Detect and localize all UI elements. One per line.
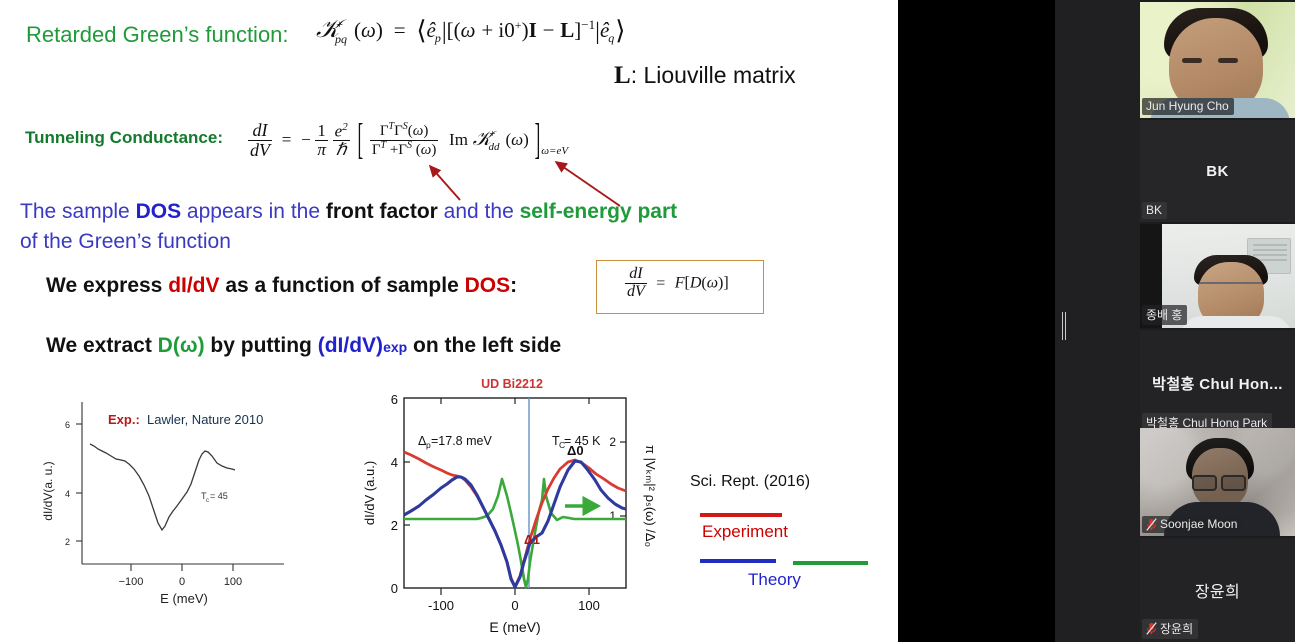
- s2-dos: DOS: [465, 274, 511, 297]
- s2-colon: :: [510, 274, 517, 297]
- exp-curve: [90, 444, 235, 530]
- credit-label: Sci. Rept. (2016): [690, 473, 810, 490]
- s1-dos: DOS: [136, 200, 182, 223]
- s1-front-factor: front factor: [326, 200, 438, 223]
- y-axis-label: dI/dV (a.u.): [362, 461, 377, 525]
- s1-part-a: The sample: [20, 200, 136, 223]
- participant-tile-bk[interactable]: BK BK: [1140, 120, 1295, 222]
- participant-initials: BK: [1206, 163, 1228, 180]
- x-tick-100: 100: [578, 598, 600, 613]
- sidebar-drag-handle[interactable]: [1060, 312, 1068, 340]
- x-tick-0: 0: [511, 598, 518, 613]
- annot-delta-p-val: =17.8 meV: [431, 434, 492, 448]
- participant-name: Soonjae Moon: [1160, 517, 1237, 531]
- tc-annotation-sub: c: [206, 498, 209, 504]
- s1-part-c: and the: [438, 200, 520, 223]
- y-tick-2: 2: [65, 537, 70, 547]
- credit-text: Sci. Rept. (2016): [690, 473, 810, 491]
- sentence-sample-dos-line1: The sample DOS appears in the front fact…: [20, 200, 677, 224]
- participant-name: 종배 홍: [1146, 306, 1182, 323]
- x-axis-label: E (meV): [160, 591, 208, 606]
- x-tick-neg100: -100: [428, 598, 454, 613]
- y-tick-4: 4: [391, 455, 398, 470]
- arrow-to-front-factor: [430, 166, 460, 200]
- participant-namebar-jun-hyung-cho: Jun Hyung Cho: [1142, 98, 1234, 115]
- x-tick-neg100: −100: [119, 576, 144, 588]
- sentence-extract-d: We extract D(ω) by putting (dI/dV)exp on…: [46, 334, 561, 358]
- s2-didv: dI/dV: [168, 274, 219, 297]
- mic-muted-icon: [1146, 622, 1157, 635]
- mic-muted-icon: [1146, 518, 1157, 531]
- y2-tick-2: 2: [609, 435, 616, 449]
- sentence-express-didv: We express dI/dV as a function of sample…: [46, 274, 517, 298]
- boxed-equation: dIdV = F[D(ω)]: [596, 260, 764, 314]
- s3-part-c: on the left side: [407, 334, 561, 357]
- participant-name: Jun Hyung Cho: [1146, 99, 1229, 113]
- annot-delta0: Δ0: [567, 443, 584, 458]
- participant-initials: 박철홍 Chul Hon...: [1152, 373, 1283, 394]
- s2-part-b: as a function of sample: [220, 274, 465, 297]
- sentence-sample-dos-line2: of the Green’s function: [20, 230, 231, 254]
- y2-tick-1: 1: [609, 509, 616, 523]
- annot-delta1: Δ1: [524, 533, 540, 547]
- x-tick-0: 0: [179, 576, 185, 588]
- legend-theory-text: Theory: [748, 570, 801, 589]
- chart-ud-bi2212-svg: UD Bi2212 6 4 2 0 2 1: [360, 370, 680, 640]
- s1-self-energy: self-energy part: [520, 200, 678, 223]
- participant-tile-soonjae-moon[interactable]: Soonjae Moon: [1140, 428, 1295, 536]
- s3-part-b: by putting: [205, 334, 318, 357]
- s3-part-a: We extract: [46, 334, 158, 357]
- s1-part-d: of the Green’s function: [20, 230, 231, 253]
- legend-theory-label: Theory: [748, 570, 801, 590]
- legend-experiment-swatch: [700, 513, 782, 517]
- y-tick-2: 2: [391, 518, 398, 533]
- x-axis-label: E (meV): [489, 619, 540, 635]
- chart-ud-bi2212: UD Bi2212 6 4 2 0 2 1: [360, 370, 680, 640]
- legend-experiment-text: Experiment: [702, 522, 788, 541]
- legend-experiment-label: Experiment: [702, 522, 788, 542]
- y-tick-6: 6: [391, 392, 398, 407]
- presentation-slide: Retarded Green’s function: 𝒦+pq(ω) = ⟨êp…: [0, 0, 898, 642]
- participant-tile-chul-hong-park[interactable]: 박철홍 Chul Hon... 박철홍 Chul Hong Park: [1140, 330, 1295, 436]
- x-tick-100: 100: [224, 576, 242, 588]
- s1-part-b: appears in the: [181, 200, 326, 223]
- tc-annotation-tail: = 45: [210, 491, 228, 501]
- participant-namebar-soonjae-moon: Soonjae Moon: [1142, 516, 1242, 533]
- screen-root: Retarded Green’s function: 𝒦+pq(ω) = ⟨êp…: [0, 0, 1295, 642]
- y2-axis-label: π |Vₖₘ|² ρₛ(ω) /Δ₀: [643, 445, 658, 547]
- y-axis-label: dI/dV(a. u.): [41, 461, 55, 520]
- legend-green-swatch: [793, 561, 868, 565]
- y-tick-4: 4: [65, 489, 70, 499]
- s3-exp-subscript: exp: [383, 339, 407, 355]
- participant-tile-jongbae-hong[interactable]: 종배 홍: [1140, 224, 1295, 328]
- chart-exp-lawler-svg: 6 4 2 −100 0 100 Exp.: Lawler, Nature 20…: [34, 396, 304, 616]
- exp-title-prefix: Exp.:: [108, 412, 140, 427]
- participants-sidebar: Jun Hyung Cho BK BK 종배 홍 박철홍 Chu: [1140, 0, 1295, 642]
- chart-title: UD Bi2212: [481, 377, 543, 391]
- participant-namebar-jongbae-hong: 종배 홍: [1142, 305, 1187, 325]
- participant-namebar-bk: BK: [1142, 202, 1167, 219]
- s3-didv-exp: (dI/dV): [318, 334, 383, 357]
- s2-part-a: We express: [46, 274, 168, 297]
- participant-tile-jang-yunhee[interactable]: 장윤희 장윤희: [1140, 538, 1295, 642]
- participant-name: BK: [1146, 203, 1162, 217]
- chart-exp-lawler: 6 4 2 −100 0 100 Exp.: Lawler, Nature 20…: [34, 396, 304, 616]
- participant-name: 장윤희: [1160, 620, 1193, 637]
- s3-domega: D(ω): [158, 334, 205, 357]
- participant-namebar-jang-yunhee: 장윤희: [1142, 619, 1198, 639]
- participant-tile-jun-hyung-cho[interactable]: Jun Hyung Cho: [1140, 2, 1295, 118]
- exp-title-rest: Lawler, Nature 2010: [147, 412, 263, 427]
- y-tick-6: 6: [65, 420, 70, 430]
- legend-theory-swatch: [700, 559, 776, 563]
- y-tick-0: 0: [391, 581, 398, 596]
- participant-initials: 장윤희: [1195, 578, 1240, 602]
